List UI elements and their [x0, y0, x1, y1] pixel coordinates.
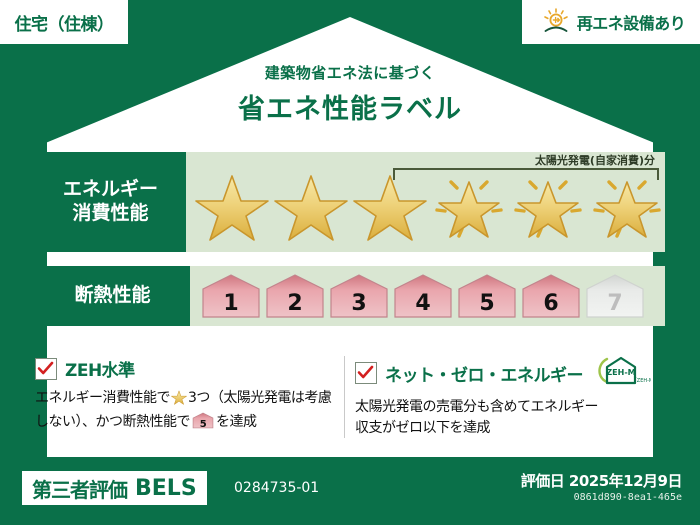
insulation-level-4: 4: [392, 272, 454, 320]
energy-stars-panel: 太陽光発電(自家消費)分: [186, 152, 665, 252]
star-2: [273, 168, 349, 242]
insulation-level-4-value: 4: [392, 291, 454, 316]
inline-house-badge: 5: [192, 412, 214, 429]
insulation-level-3-value: 3: [328, 291, 390, 316]
insulation-level-2-value: 2: [264, 291, 326, 316]
zeh-description: エネルギー消費性能で 3つ（太陽光発電は考慮しない）、かつ断熱性能で 5 を達成: [35, 388, 335, 433]
criteria-zeh: ZEH水準 エネルギー消費性能で 3つ（太陽光発電は考慮しない）、かつ断熱性能で…: [35, 356, 335, 433]
bels-jp-label: 第三者評価: [32, 474, 127, 503]
inline-house-badge-value: 5: [192, 417, 214, 432]
inline-star-icon: [171, 389, 187, 412]
criteria-net-zero-header: ネット・ゼロ・エネルギー ZEH-M 「ZEH-M」: [355, 356, 655, 390]
evaluation-hash: 0861d890-8ea1-465e: [574, 492, 682, 503]
insulation-level-6: 6: [520, 272, 582, 320]
label-title-block: 建築物省エネ法に基づく 省エネ性能ラベル: [0, 62, 700, 126]
building-type-tag-label: 住宅（住棟）: [15, 10, 114, 35]
insulation-level-7: 7: [584, 272, 646, 320]
svg-text:「ZEH-M」: 「ZEH-M」: [632, 378, 651, 384]
zeh-desc-star-count: 3つ（太陽光発電: [188, 390, 291, 406]
insulation-level-1-value: 1: [200, 291, 262, 316]
zeh-checkbox[interactable]: [35, 358, 57, 380]
energy-performance-row: エネルギー 消費性能 太陽光発電(自家消費)分: [35, 152, 665, 252]
insulation-performance-label: 断熱性能: [35, 266, 190, 326]
insulation-level-6-value: 6: [520, 291, 582, 316]
criteria-zeh-header: ZEH水準: [35, 356, 335, 381]
sun-icon: [541, 7, 571, 37]
energy-label-line1: エネルギー: [63, 178, 158, 202]
evaluation-date: 評価日 2025年12月9日: [521, 470, 682, 491]
bels-certificate-number: 0284735-01: [234, 480, 319, 496]
renewable-equipment-tag: 再エネ設備あり: [522, 0, 700, 44]
star-3: [352, 168, 428, 242]
bels-badge: 第三者評価 BELS: [22, 471, 207, 505]
insulation-level-7-value: 7: [584, 291, 646, 316]
criteria-divider: [344, 356, 345, 438]
net-zero-description: 太陽光発電の売電分も含めてエネルギー 収支がゼロ以下を達成: [355, 397, 655, 439]
star-4-solar: [431, 168, 507, 242]
page-title: 省エネ性能ラベル: [0, 87, 700, 126]
star-1: [194, 168, 270, 242]
zeh-desc-part1: エネルギー消費性能で: [35, 390, 170, 406]
criteria-net-zero: ネット・ゼロ・エネルギー ZEH-M 「ZEH-M」 太陽光発電の売電分も含めて…: [355, 356, 655, 439]
net-zero-title: ネット・ゼロ・エネルギー: [385, 361, 583, 386]
zeh-desc-part3: を達成: [216, 414, 257, 430]
insulation-level-5-value: 5: [456, 291, 518, 316]
insulation-performance-row: 断熱性能: [35, 266, 665, 326]
renewable-tag-label: 再エネ設備あり: [577, 10, 686, 34]
star-5-solar: [510, 168, 586, 242]
title-subtitle: 建築物省エネ法に基づく: [0, 62, 700, 83]
insulation-level-scale: 1 2 3 4: [190, 272, 646, 320]
svg-text:ZEH-M: ZEH-M: [606, 368, 635, 377]
insulation-levels-panel: 1 2 3 4: [190, 266, 665, 326]
star-rating: [186, 168, 665, 242]
star-6-solar: [589, 168, 665, 242]
energy-performance-label: エネルギー 消費性能: [35, 152, 186, 252]
zeh-title: ZEH水準: [65, 356, 135, 381]
net-zero-desc-part1: 太陽光発電の売電分も含めてエネルギー: [355, 399, 598, 415]
building-type-tag: 住宅（住棟）: [0, 0, 128, 44]
zeh-m-logo-icon: ZEH-M 「ZEH-M」: [593, 356, 651, 390]
net-zero-desc-part2: 収支がゼロ以下を達成: [355, 420, 490, 436]
insulation-level-3: 3: [328, 272, 390, 320]
energy-label-line2: 消費性能: [72, 202, 148, 226]
bels-en-label: BELS: [135, 476, 197, 501]
insulation-level-1: 1: [200, 272, 262, 320]
label-footer: 第三者評価 BELS 0284735-01 評価日 2025年12月9日 086…: [0, 463, 700, 525]
solar-bracket-label: 太陽光発電(自家消費)分: [535, 152, 655, 168]
insulation-label-text: 断熱性能: [74, 284, 150, 308]
bels-energy-label: 住宅（住棟） 再エネ設備あり 建築物省エネ法に基づく 省エネ性能ラベル: [0, 0, 700, 525]
insulation-level-2: 2: [264, 272, 326, 320]
net-zero-checkbox[interactable]: [355, 362, 377, 384]
insulation-level-5: 5: [456, 272, 518, 320]
